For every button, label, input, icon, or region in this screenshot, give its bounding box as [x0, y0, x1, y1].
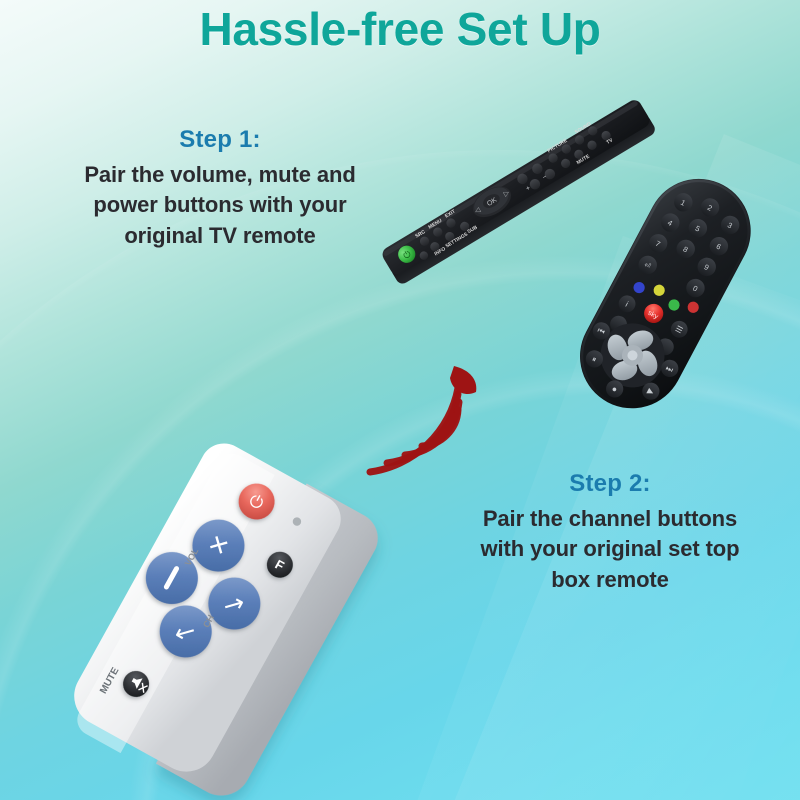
step-2-body: Pair the channel buttons with your origi…	[430, 504, 790, 595]
step-1-line-3: original TV remote	[10, 221, 430, 251]
step-1-line-2: power buttons with your	[10, 190, 430, 220]
original-set-top-box-remote: 123 456 789 ⏎0 sky i ☰	[520, 160, 800, 420]
infrared-emitter-dot	[450, 366, 476, 394]
page-title: Hassle-free Set Up	[0, 2, 800, 56]
step-2-block: Step 2: Pair the channel buttons with yo…	[430, 470, 790, 595]
infographic-canvas: Hassle-free Set Up Step 1: Pair the volu…	[0, 0, 800, 800]
step-1-block: Step 1: Pair the volume, mute and power …	[10, 126, 430, 251]
universal-learning-remote: ⏻ F ✕ ↗	[20, 430, 420, 800]
step-2-line-2: with your original set top	[430, 534, 790, 564]
step-2-line-3: box remote	[430, 565, 790, 595]
step-1-line-1: Pair the volume, mute and	[10, 160, 430, 190]
step-2-line-1: Pair the channel buttons	[430, 504, 790, 534]
step-1-label: Step 1:	[10, 126, 430, 154]
step-1-body: Pair the volume, mute and power buttons …	[10, 160, 430, 251]
